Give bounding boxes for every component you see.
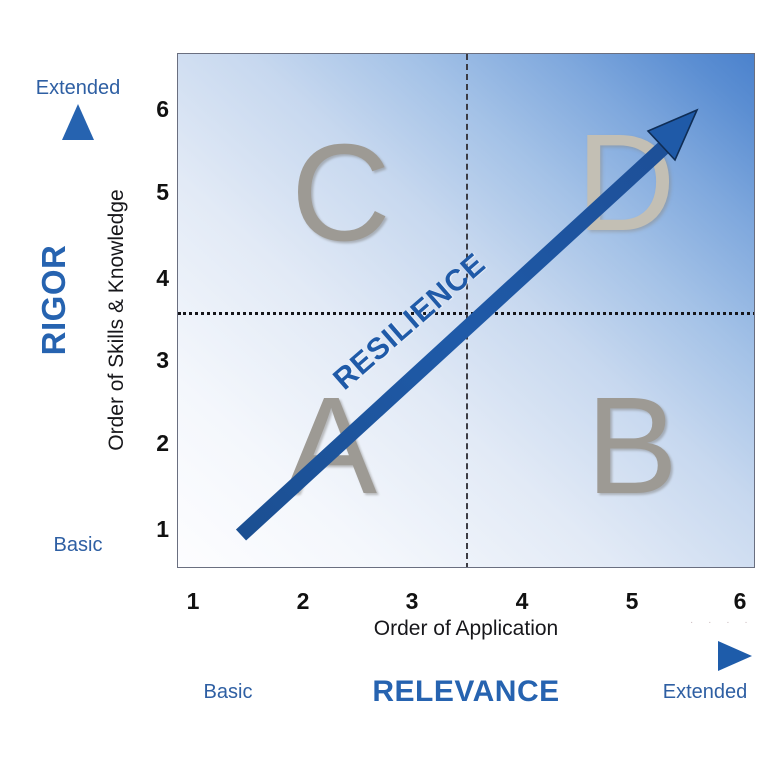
resilience-arrow-shaft — [241, 139, 673, 535]
y-tick-3: 3 — [139, 347, 169, 374]
x-axis-title: Order of Application — [374, 617, 558, 641]
x-tick-3: 3 — [397, 588, 427, 615]
y-tick-2: 2 — [139, 430, 169, 457]
x-tick-4: 4 — [507, 588, 537, 615]
scan-artifact-dots: · · · · — [690, 617, 754, 628]
x-tick-5: 5 — [617, 588, 647, 615]
x-tick-1: 1 — [178, 588, 208, 615]
x-tick-6: 6 — [725, 588, 755, 615]
diagram-canvas: C D A B RESILIENCE 6 5 4 3 2 1 1 2 3 — [0, 0, 768, 768]
x-tick-2: 2 — [288, 588, 318, 615]
x-axis-dimension-name: RELEVANCE — [372, 675, 559, 709]
plot-area: C D A B RESILIENCE — [177, 53, 755, 568]
y-tick-1: 1 — [139, 516, 169, 543]
y-axis-high-label: Extended — [36, 77, 121, 100]
y-axis-low-label: Basic — [54, 534, 103, 557]
rigor-axis-arrow-head — [62, 104, 94, 140]
resilience-arrow-svg — [178, 54, 755, 568]
x-axis-low-label: Basic — [204, 681, 253, 704]
y-axis-dimension-name: RIGOR — [35, 245, 73, 356]
y-tick-4: 4 — [139, 265, 169, 292]
y-axis-title: Order of Skills & Knowledge — [105, 189, 129, 450]
x-axis-high-label: Extended — [663, 681, 748, 704]
y-tick-5: 5 — [139, 179, 169, 206]
relevance-axis-arrow-head — [718, 641, 752, 671]
y-tick-6: 6 — [139, 96, 169, 123]
